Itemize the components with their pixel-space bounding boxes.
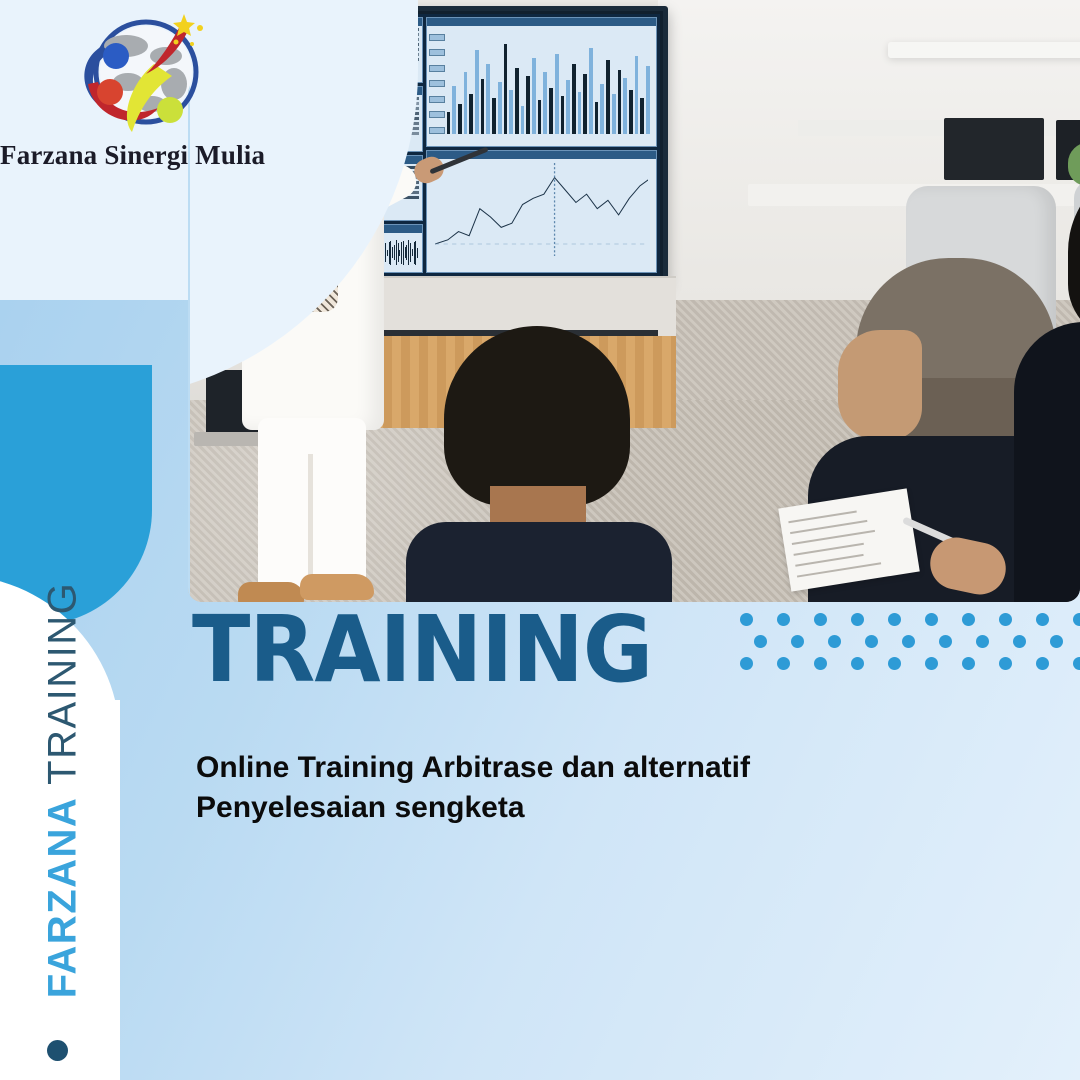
waveform-bar: [410, 243, 411, 262]
grid-dot: [828, 635, 841, 648]
chart-bar: [561, 96, 565, 134]
grid-dot: [851, 657, 864, 670]
chart-bar: [481, 79, 485, 134]
company-name: Farzana Sinergi Mulia: [0, 140, 250, 171]
chart-bar: [475, 50, 479, 134]
chart-bar: [635, 56, 639, 134]
audience-suit: [406, 522, 672, 602]
sidebar-wordmark: FARZANA TRAINING: [16, 575, 108, 1005]
dot-grid-row: [740, 608, 1080, 630]
waveform-bar: [403, 241, 404, 265]
chart-bar: [606, 60, 610, 134]
brand-logo-block: Farzana Sinergi Mulia: [0, 0, 270, 200]
chart-bar: [452, 86, 456, 134]
axis-tick: [429, 34, 445, 41]
line-chart-plot: [435, 163, 649, 256]
waveform-bar: [406, 245, 407, 260]
chart-bar: [555, 54, 559, 134]
axis-tick: [429, 49, 445, 56]
dashboard-line-chart: [426, 150, 658, 273]
chart-bar: [600, 84, 604, 134]
waveform-bar: [398, 243, 399, 262]
chart-bar: [549, 88, 553, 134]
audience-suit: [1014, 322, 1080, 602]
grid-dot: [1050, 635, 1063, 648]
bar-chart-axis: [429, 34, 445, 134]
waveform-bar: [408, 240, 409, 265]
poster-canvas: Farzana Sinergi Mulia FARZANA TRAINING T…: [0, 0, 1080, 1080]
grid-dot: [740, 657, 753, 670]
grid-dot: [925, 613, 938, 626]
chart-bar: [543, 72, 547, 134]
bullet-dot-icon: [47, 1040, 68, 1061]
audience-member-front: [420, 326, 656, 602]
grid-dot: [740, 613, 753, 626]
grid-dot: [1013, 635, 1026, 648]
grid-dot: [888, 657, 901, 670]
axis-tick: [429, 96, 445, 103]
presenter-leg-split: [308, 454, 313, 584]
audience-head: [444, 326, 630, 506]
grid-dot: [1036, 657, 1049, 670]
grid-dot: [1073, 613, 1080, 626]
chart-bar: [646, 66, 650, 134]
paper-line: [793, 543, 863, 556]
chart-bar: [458, 104, 462, 134]
grid-dot: [939, 635, 952, 648]
page-title: TRAINING: [192, 604, 652, 696]
axis-tick: [429, 80, 445, 87]
grid-dot: [962, 613, 975, 626]
chart-bar: [532, 58, 536, 134]
waveform-bar: [399, 250, 400, 256]
chart-bar: [572, 64, 576, 134]
ceiling-light: [888, 42, 1080, 58]
grid-dot: [976, 635, 989, 648]
chart-bar: [521, 106, 525, 134]
waveform-bar: [412, 249, 413, 256]
sidebar-word-secondary: TRAINING: [40, 582, 84, 797]
grid-dot: [851, 613, 864, 626]
audience-face: [838, 330, 922, 440]
waveform-bar: [394, 245, 395, 260]
chart-bar: [447, 112, 451, 134]
grid-dot: [754, 635, 767, 648]
grid-dot: [888, 613, 901, 626]
axis-tick: [429, 111, 445, 118]
chart-bar: [538, 100, 542, 134]
grid-dot: [814, 657, 827, 670]
dashboard-bar-chart: [426, 17, 658, 147]
chart-bar: [464, 72, 468, 134]
chart-bar: [612, 94, 616, 134]
globe-people-logo-icon: [54, 12, 234, 137]
dot-grid-decoration: [740, 608, 1080, 674]
grid-dot: [1073, 657, 1080, 670]
grid-dot: [962, 657, 975, 670]
chart-bar: [578, 92, 582, 134]
axis-tick: [429, 65, 445, 72]
waveform-bar: [396, 240, 397, 265]
chart-bar: [640, 98, 644, 134]
waveform-bar: [415, 241, 416, 265]
grid-dot: [777, 613, 790, 626]
waveform-bar: [414, 242, 415, 264]
grid-dot: [1036, 613, 1049, 626]
chart-bar: [498, 82, 502, 134]
audience-head: [1068, 160, 1080, 340]
grid-dot: [999, 657, 1012, 670]
waveform-bar: [401, 242, 402, 264]
grid-dot: [791, 635, 804, 648]
chart-bar: [486, 64, 490, 134]
chart-bar: [629, 90, 633, 134]
paper-line: [795, 554, 863, 567]
chart-bar: [589, 48, 593, 134]
chart-bar: [583, 74, 587, 134]
waveform-bar: [405, 247, 406, 258]
chart-bar: [492, 98, 496, 134]
grid-dot: [902, 635, 915, 648]
grid-dot: [999, 613, 1012, 626]
waveform-bar: [417, 248, 418, 258]
chart-bar: [509, 90, 513, 134]
paper-line: [788, 511, 856, 524]
training-seminar-photo: [188, 0, 1080, 602]
grid-dot: [814, 613, 827, 626]
chart-bar: [526, 76, 530, 134]
chart-bar: [566, 80, 570, 134]
chart-bar: [515, 68, 519, 134]
sidebar-word-primary: FARZANA: [40, 797, 84, 999]
dot-grid-row: [740, 652, 1080, 674]
chart-bar: [623, 78, 627, 134]
grid-dot: [865, 635, 878, 648]
course-subtitle: Online Training Arbitrase dan alternatif…: [196, 748, 886, 828]
dashboard-right-column: [426, 17, 658, 273]
chart-bar: [469, 94, 473, 134]
audience-member-far-right: [1024, 160, 1080, 602]
paper-line: [797, 562, 881, 577]
grid-dot: [777, 657, 790, 670]
dot-grid-row: [754, 630, 1080, 652]
grid-dot: [925, 657, 938, 670]
chart-bar: [618, 70, 622, 134]
bar-chart-bars: [447, 34, 651, 134]
chart-bar: [504, 44, 508, 134]
panel-header: [427, 18, 657, 26]
axis-tick: [429, 127, 445, 134]
chart-bar: [595, 102, 599, 134]
